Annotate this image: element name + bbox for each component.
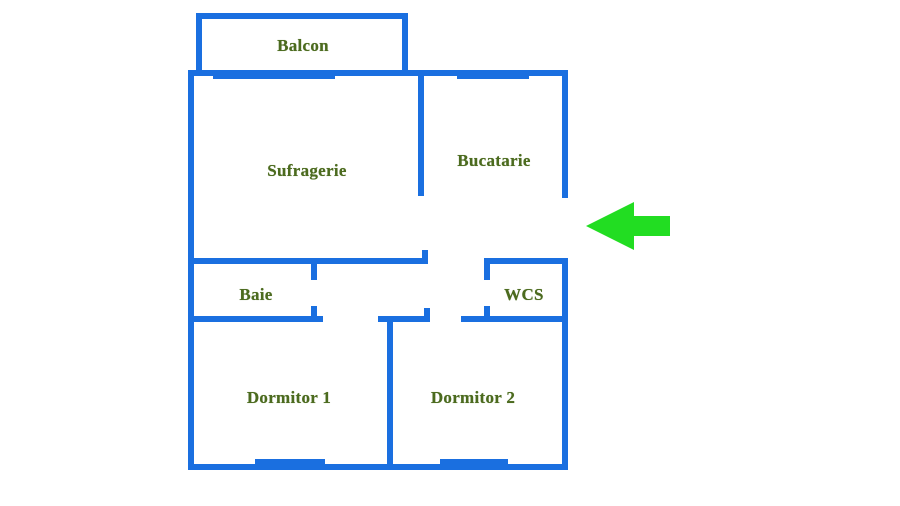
room-label-baie: Baie: [239, 285, 272, 305]
room-label-dormitor-2: Dormitor 2: [431, 388, 515, 408]
room-label-bucatarie: Bucatarie: [457, 151, 531, 171]
floor-plan-drawing: [0, 0, 900, 506]
outer-walls: [188, 70, 568, 470]
room-label-sufragerie: Sufragerie: [267, 161, 346, 181]
room-label-wcs: WCS: [504, 285, 544, 305]
room-label-balcon: Balcon: [277, 36, 329, 56]
floor-plan-canvas: Balcon Sufragerie Bucatarie Baie WCS Dor…: [0, 0, 900, 506]
room-label-dormitor-1: Dormitor 1: [247, 388, 331, 408]
interior-walls: [188, 70, 568, 470]
entrance-arrow: [586, 202, 670, 250]
